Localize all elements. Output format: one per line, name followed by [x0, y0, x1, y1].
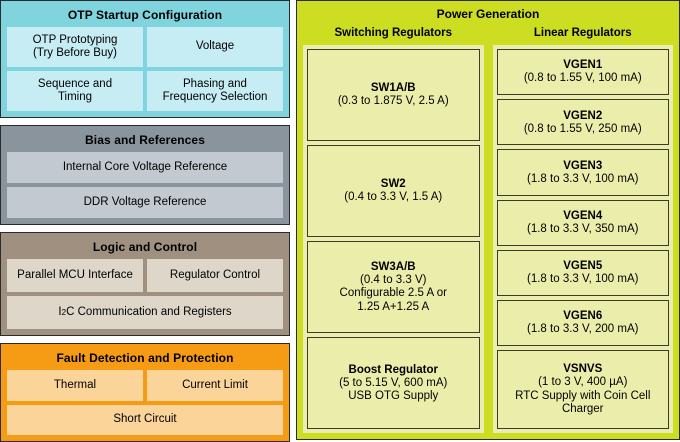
panel-row: OTP Prototyping(Try Before Buy) Voltage	[7, 27, 283, 67]
cell-short-circuit[interactable]: Short Circuit	[7, 405, 283, 436]
regulator-name: VGEN4	[563, 209, 602, 223]
regulator-box-vgen4[interactable]: VGEN4(1.8 to 3.3 V, 350 mA)	[497, 200, 670, 246]
panel-power-generation: Power Generation Switching Regulators SW…	[296, 0, 680, 440]
panel-row: Short Circuit	[7, 405, 283, 436]
cell-voltage[interactable]: Voltage	[147, 27, 283, 67]
regulator-spec-line: (1 to 3 V, 400 µA)	[538, 376, 627, 390]
regulator-box-vgen1[interactable]: VGEN1(0.8 to 1.55 V, 100 mA)	[497, 49, 670, 95]
regulator-name: SW2	[381, 177, 406, 191]
cell-line: Timing	[58, 91, 92, 103]
regulator-spec-line: USB OTG Supply	[348, 390, 438, 404]
panel-body-bias: Internal Core Voltage Reference DDR Volt…	[7, 152, 283, 218]
panel-row: Parallel MCU Interface Regulator Control	[7, 259, 283, 292]
panel-logic-and-control: Logic and Control Parallel MCU Interface…	[0, 232, 290, 336]
panel-row: Sequence andTiming Phasing andFrequency …	[7, 71, 283, 111]
regulator-box-vsnvs[interactable]: VSNVS(1 to 3 V, 400 µA)RTC Supply with C…	[497, 350, 670, 429]
regulator-spec-line: 1.25 A+1.25 A	[357, 301, 429, 315]
cell-phasing-and-frequency-selection[interactable]: Phasing andFrequency Selection	[147, 71, 283, 111]
cell-otp-prototyping[interactable]: OTP Prototyping(Try Before Buy)	[7, 27, 143, 67]
cell-internal-core-voltage-reference[interactable]: Internal Core Voltage Reference	[7, 152, 283, 183]
cell-line: (Try Before Buy)	[33, 47, 117, 59]
panel-fault-detection-and-protection: Fault Detection and Protection Thermal C…	[0, 343, 290, 442]
regulator-box-sw3ab[interactable]: SW3A/B(0.4 to 3.3 V)Configurable 2.5 A o…	[307, 241, 480, 333]
regulator-name: VGEN3	[563, 159, 602, 173]
switching-regulator-list: SW1A/B(0.3 to 1.875 V, 2.5 A)SW2(0.4 to …	[303, 45, 484, 433]
cell-regulator-control[interactable]: Regulator Control	[147, 259, 283, 292]
panel-title-logic: Logic and Control	[7, 237, 283, 259]
cell-current-limit[interactable]: Current Limit	[147, 370, 283, 401]
panel-row: Internal Core Voltage Reference	[7, 152, 283, 183]
column-linear-regulators: Linear Regulators VGEN1(0.8 to 1.55 V, 1…	[493, 25, 674, 433]
regulator-spec-line: Charger	[562, 403, 604, 417]
panel-title-fault: Fault Detection and Protection	[7, 348, 283, 370]
panel-row: DDR Voltage Reference	[7, 187, 283, 218]
regulator-spec-line: (0.3 to 1.875 V, 2.5 A)	[338, 95, 449, 109]
regulator-name: VGEN2	[563, 109, 602, 123]
panel-title-bias: Bias and References	[7, 130, 283, 152]
regulator-name: VGEN6	[563, 309, 602, 323]
cell-line: Frequency Selection	[163, 91, 268, 103]
regulator-box-boost-regulator[interactable]: Boost Regulator(5 to 5.15 V, 600 mA)USB …	[307, 337, 480, 429]
panel-row: Thermal Current Limit	[7, 370, 283, 401]
regulator-columns: Switching Regulators SW1A/B(0.3 to 1.875…	[303, 25, 673, 433]
regulator-box-sw2[interactable]: SW2(0.4 to 3.3 V, 1.5 A)	[307, 145, 480, 237]
regulator-spec-line: Configurable 2.5 A or	[340, 287, 447, 301]
panel-otp-startup-configuration: OTP Startup Configuration OTP Prototypin…	[0, 0, 290, 118]
regulator-name: VGEN1	[563, 58, 602, 72]
cell-line: Phasing and	[183, 78, 247, 90]
regulator-name: Boost Regulator	[349, 363, 438, 377]
regulator-spec-line: (1.8 to 3.3 V, 100 mA)	[527, 273, 638, 287]
panel-title-power-generation: Power Generation	[303, 4, 673, 25]
regulator-spec-line: (0.8 to 1.55 V, 100 mA)	[524, 72, 642, 86]
column-switching-regulators: Switching Regulators SW1A/B(0.3 to 1.875…	[303, 25, 484, 433]
column-heading-switching-regulators: Switching Regulators	[303, 25, 484, 45]
left-column: OTP Startup Configuration OTP Prototypin…	[0, 0, 290, 440]
regulator-spec-line: (1.8 to 3.3 V, 200 mA)	[527, 323, 638, 337]
regulator-spec-line: RTC Supply with Coin Cell	[515, 390, 650, 404]
panel-bias-and-references: Bias and References Internal Core Voltag…	[0, 125, 290, 225]
regulator-name: VSNVS	[563, 362, 602, 376]
column-heading-linear-regulators: Linear Regulators	[493, 25, 674, 45]
cell-line: Sequence and	[38, 78, 112, 90]
regulator-name: SW3A/B	[371, 260, 416, 274]
cell-sequence-and-timing[interactable]: Sequence andTiming	[7, 71, 143, 111]
panel-body-otp: OTP Prototyping(Try Before Buy) Voltage …	[7, 27, 283, 111]
panel-title-otp: OTP Startup Configuration	[7, 5, 283, 27]
linear-regulator-list: VGEN1(0.8 to 1.55 V, 100 mA)VGEN2(0.8 to…	[493, 45, 674, 433]
cell-thermal[interactable]: Thermal	[7, 370, 143, 401]
panel-row: I2C Communication and Registers	[7, 296, 283, 329]
regulator-spec-line: (5 to 5.15 V, 600 mA)	[339, 377, 447, 391]
regulator-spec-line: (1.8 to 3.3 V, 350 mA)	[527, 223, 638, 237]
regulator-spec-line: (0.8 to 1.55 V, 250 mA)	[524, 123, 642, 137]
regulator-spec-line: (1.8 to 3.3 V, 100 mA)	[527, 173, 638, 187]
block-diagram: OTP Startup Configuration OTP Prototypin…	[0, 0, 680, 440]
panel-body-fault: Thermal Current Limit Short Circuit	[7, 370, 283, 435]
regulator-box-sw1ab[interactable]: SW1A/B(0.3 to 1.875 V, 2.5 A)	[307, 49, 480, 141]
regulator-spec-line: (0.4 to 3.3 V, 1.5 A)	[344, 191, 442, 205]
cell-ddr-voltage-reference[interactable]: DDR Voltage Reference	[7, 187, 283, 218]
cell-parallel-mcu-interface[interactable]: Parallel MCU Interface	[7, 259, 143, 292]
regulator-name: VGEN5	[563, 259, 602, 273]
cell-line: OTP Prototyping	[33, 34, 118, 46]
cell-i2c-communication-and-registers[interactable]: I2C Communication and Registers	[7, 296, 283, 329]
panel-body-logic: Parallel MCU Interface Regulator Control…	[7, 259, 283, 329]
regulator-box-vgen3[interactable]: VGEN3(1.8 to 3.3 V, 100 mA)	[497, 149, 670, 195]
regulator-spec-line: (0.4 to 3.3 V)	[360, 274, 426, 288]
regulator-box-vgen5[interactable]: VGEN5(1.8 to 3.3 V, 100 mA)	[497, 250, 670, 296]
regulator-box-vgen6[interactable]: VGEN6(1.8 to 3.3 V, 200 mA)	[497, 300, 670, 346]
regulator-box-vgen2[interactable]: VGEN2(0.8 to 1.55 V, 250 mA)	[497, 99, 670, 145]
regulator-name: SW1A/B	[371, 81, 416, 95]
